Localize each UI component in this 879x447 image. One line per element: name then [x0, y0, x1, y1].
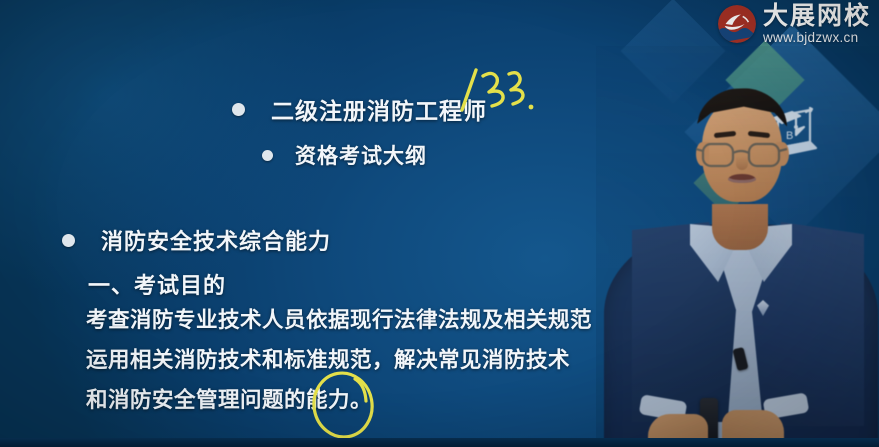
presenter-nose	[736, 156, 748, 170]
slide-body-line-1: 考查消防专业技术人员依据现行法律法规及相关规范	[86, 303, 592, 334]
slide-body-line-3: 和消防安全管理问题的能力。	[86, 383, 372, 414]
slide-title-line-1-text: 二级注册消防工程师	[271, 92, 487, 126]
slide-body-line-2: 运用相关消防技术和标准规范，解决常见消防技术	[86, 343, 570, 374]
bullet-dot-icon	[232, 103, 245, 116]
slide-heading: 消防安全技术综合能力	[62, 224, 331, 256]
bottom-letterbox-bar	[0, 438, 879, 447]
slide-title-line-1: 二级注册消防工程师	[232, 92, 487, 126]
video-lecture-screen: C B 大展网校 www.bjdzwx.cn 二级注册消防工程师	[0, 0, 879, 447]
slide-subheading: 一、考试目的	[88, 268, 226, 300]
slide-title-line-2-text: 资格考试大纲	[295, 140, 427, 170]
presenter-mouth	[728, 174, 756, 183]
slide-title-line-2: 资格考试大纲	[262, 140, 427, 170]
bullet-dot-icon	[262, 150, 273, 161]
instructor-video-overlay	[596, 46, 879, 447]
slide-heading-text: 消防安全技术综合能力	[101, 224, 331, 256]
bullet-dot-icon	[62, 234, 75, 247]
presenter-neck	[712, 204, 768, 250]
